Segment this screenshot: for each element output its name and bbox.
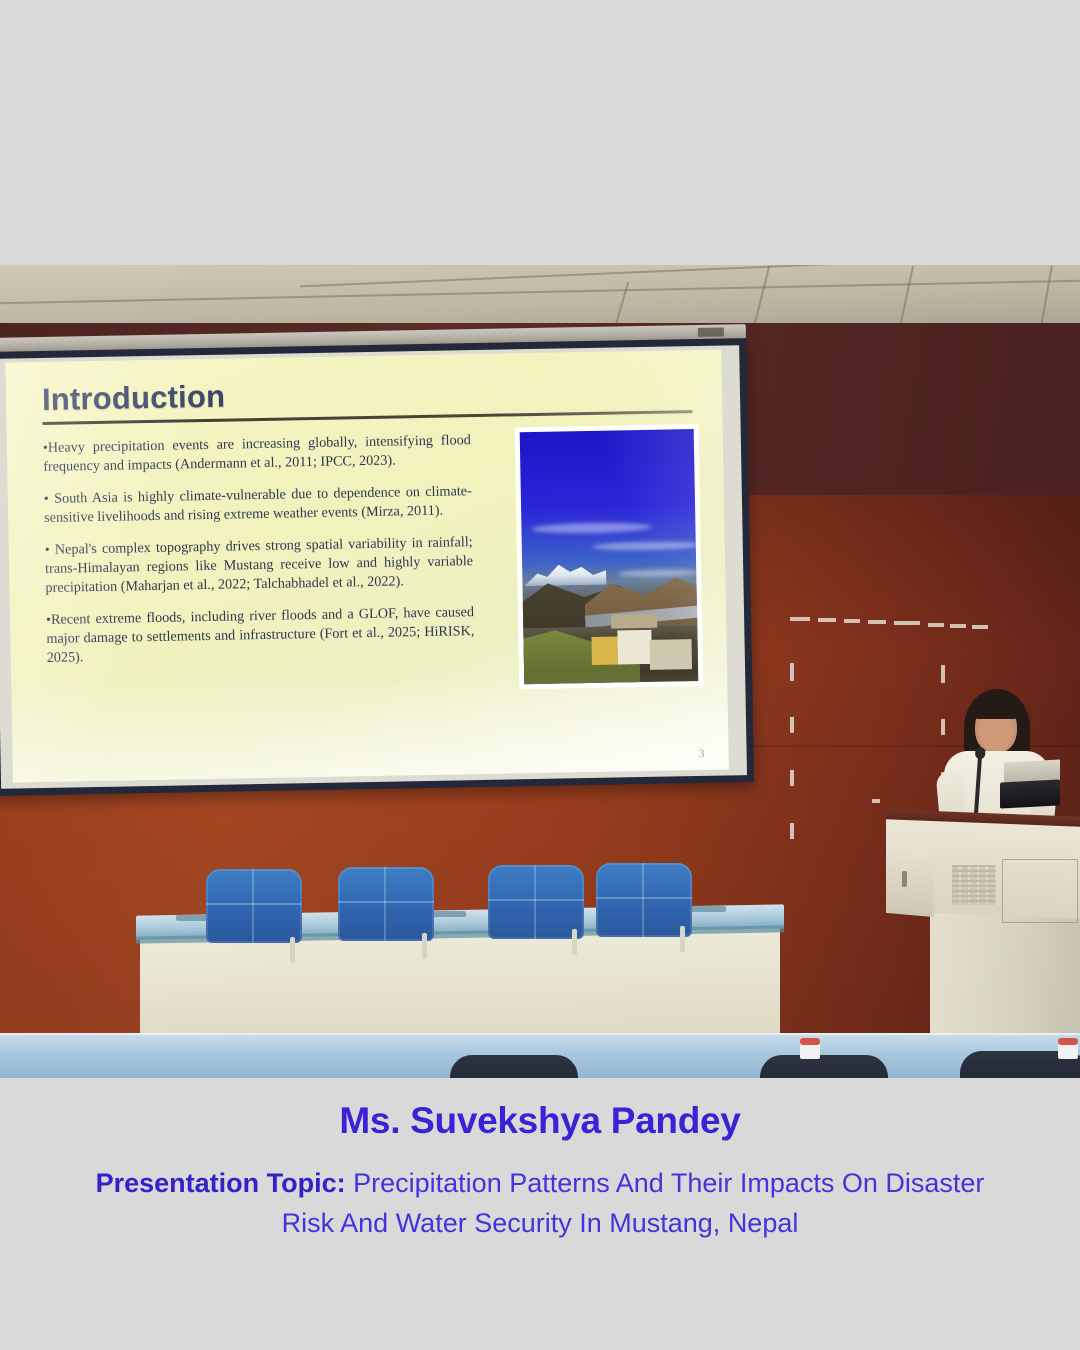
slide-bullet: •Recent extreme floods, including river … <box>46 603 475 668</box>
wall-tape-mark <box>941 719 945 735</box>
screen-surface: Introduction •Heavy precipitation events… <box>0 345 747 789</box>
desk-cable-slot <box>690 906 726 912</box>
building <box>650 639 693 670</box>
wall-tape-mark <box>818 618 836 622</box>
podium-speaker-grille <box>952 865 996 905</box>
wall-tape-mark <box>872 799 880 803</box>
cloud <box>592 541 699 551</box>
slide-bullet: •Heavy precipitation events are increasi… <box>43 431 472 477</box>
building <box>611 614 657 629</box>
cup <box>800 1043 820 1059</box>
speaker-name: Ms. Suvekshya Pandey <box>0 1100 1080 1142</box>
wall-tape-mark <box>790 663 794 681</box>
screen-housing-bracket <box>698 327 724 336</box>
cloud <box>531 522 651 534</box>
wall-tape-mark <box>894 621 920 625</box>
presentation-topic-text: Precipitation Patterns And Their Impacts… <box>282 1168 985 1238</box>
podium-side-panel <box>886 845 934 917</box>
chair-leg <box>422 933 427 959</box>
ceiling-grid-line <box>0 280 1080 305</box>
building <box>591 636 618 664</box>
slide-body: •Heavy precipitation events are increasi… <box>43 431 475 668</box>
building <box>617 630 652 665</box>
slide-bullet: • Nepal's complex topography drives stro… <box>45 533 474 598</box>
podium-handle <box>902 871 907 887</box>
chair-leg <box>572 929 577 955</box>
presentation-topic: Presentation Topic: Precipitation Patter… <box>90 1164 990 1244</box>
chair-leg <box>680 926 685 952</box>
podium-panel <box>1002 859 1078 923</box>
laptop <box>1000 779 1060 808</box>
wall-tape-mark <box>790 717 794 733</box>
slide-photo <box>515 424 704 689</box>
wall-tape-mark <box>950 624 966 628</box>
slide-bullet: • South Asia is highly climate-vulnerabl… <box>44 482 473 528</box>
front-chair <box>760 1055 888 1078</box>
snow-peak <box>524 559 606 586</box>
wall-tape-mark <box>790 770 794 786</box>
desk-cable-slot <box>430 911 466 917</box>
caption-block: Ms. Suvekshya Pandey Presentation Topic:… <box>0 1078 1080 1350</box>
chair-leg <box>290 937 295 963</box>
chair <box>338 867 434 941</box>
screen-frame: Introduction •Heavy precipitation events… <box>0 338 754 796</box>
wall-tape-mark <box>844 619 860 623</box>
cup <box>1058 1043 1078 1059</box>
wall-tape-mark <box>868 620 886 624</box>
chair <box>488 865 584 939</box>
poster-root: Introduction •Heavy precipitation events… <box>0 0 1080 1350</box>
projection-screen: Introduction •Heavy precipitation events… <box>0 324 754 796</box>
wall-tape-mark <box>941 665 945 683</box>
front-chair <box>450 1055 578 1078</box>
slide-photo-scene <box>520 429 699 684</box>
wall-tape-mark <box>972 625 988 629</box>
cloud <box>618 569 698 577</box>
wall-tape-mark <box>790 823 794 839</box>
event-photo: Introduction •Heavy precipitation events… <box>0 265 1080 1078</box>
chair <box>596 863 692 937</box>
presenter-hair-front <box>972 695 1020 719</box>
wall-tape-mark <box>928 623 944 627</box>
presentation-slide: Introduction •Heavy precipitation events… <box>5 350 729 783</box>
presentation-topic-label: Presentation Topic: <box>96 1168 346 1198</box>
wall-tape-mark <box>790 617 810 621</box>
slide-page-number: 3 <box>699 748 705 760</box>
chair <box>206 869 302 943</box>
